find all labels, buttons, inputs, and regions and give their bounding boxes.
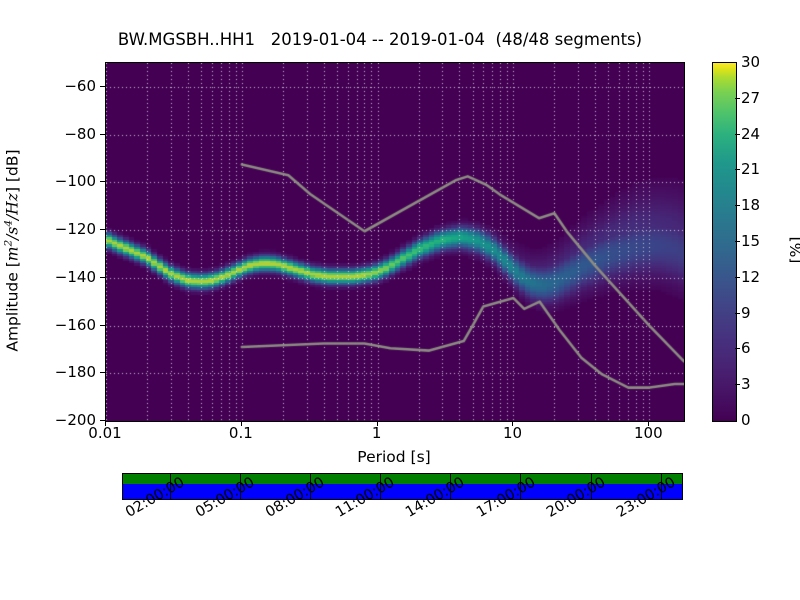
colorbar-tick-mark bbox=[735, 134, 740, 135]
x-axis-tick-label: 10 bbox=[503, 424, 522, 442]
colorbar-tick-label: 3 bbox=[741, 375, 751, 393]
ppsd-plot-area[interactable] bbox=[105, 62, 685, 422]
ppsd-figure: BW.MGSBH..HH1 2019-01-04 -- 2019-01-04 (… bbox=[0, 0, 800, 600]
x-axis-tick-mark bbox=[377, 421, 378, 426]
y-axis-tick-label: −140 bbox=[16, 268, 96, 286]
x-axis-tick-mark bbox=[648, 421, 649, 426]
colorbar-tick-mark bbox=[735, 241, 740, 242]
y-axis-tick-mark bbox=[100, 325, 105, 326]
colorbar bbox=[712, 62, 737, 422]
ppsd-histogram-canvas bbox=[106, 63, 684, 421]
y-axis-tick-label: −120 bbox=[16, 220, 96, 238]
colorbar-tick-label: 21 bbox=[741, 160, 760, 178]
y-axis-tick-label: −200 bbox=[16, 411, 96, 429]
colorbar-tick-mark bbox=[735, 277, 740, 278]
y-axis-tick-label: −60 bbox=[16, 77, 96, 95]
y-axis-tick-mark bbox=[100, 181, 105, 182]
x-axis-tick-mark bbox=[512, 421, 513, 426]
colorbar-tick-mark bbox=[735, 313, 740, 314]
colorbar-tick-label: 24 bbox=[741, 125, 760, 143]
colorbar-tick-label: 18 bbox=[741, 196, 760, 214]
x-axis-tick-mark bbox=[105, 421, 106, 426]
colorbar-tick-label: 9 bbox=[741, 304, 751, 322]
y-axis-tick-label: −160 bbox=[16, 316, 96, 334]
figure-title: BW.MGSBH..HH1 2019-01-04 -- 2019-01-04 (… bbox=[0, 30, 760, 49]
y-axis-tick-mark bbox=[100, 134, 105, 135]
colorbar-tick-mark bbox=[735, 348, 740, 349]
x-axis-tick-label: 1 bbox=[372, 424, 382, 442]
y-axis-tick-label: −80 bbox=[16, 125, 96, 143]
colorbar-tick-label: 12 bbox=[741, 268, 760, 286]
colorbar-tick-label: 30 bbox=[741, 53, 760, 71]
colorbar-tick-mark bbox=[735, 169, 740, 170]
x-axis-tick-label: 0.1 bbox=[229, 424, 253, 442]
colorbar-tick-label: 15 bbox=[741, 232, 760, 250]
x-axis-label: Period [s] bbox=[105, 448, 683, 466]
x-axis-tick-mark bbox=[241, 421, 242, 426]
y-axis-tick-mark bbox=[100, 372, 105, 373]
colorbar-tick-label: 27 bbox=[741, 89, 760, 107]
y-axis-tick-mark bbox=[100, 229, 105, 230]
x-axis-tick-label: 100 bbox=[634, 424, 663, 442]
y-axis-tick-label: −180 bbox=[16, 363, 96, 381]
colorbar-label: [%] bbox=[787, 200, 800, 300]
colorbar-tick-mark bbox=[735, 98, 740, 99]
colorbar-tick-mark bbox=[735, 384, 740, 385]
y-axis-tick-label: −100 bbox=[16, 172, 96, 190]
y-axis-tick-mark bbox=[100, 277, 105, 278]
y-axis-tick-mark bbox=[100, 86, 105, 87]
colorbar-tick-label: 0 bbox=[741, 411, 751, 429]
colorbar-tick-mark bbox=[735, 205, 740, 206]
colorbar-tick-label: 6 bbox=[741, 339, 751, 357]
x-axis-tick-label: 0.01 bbox=[88, 424, 121, 442]
